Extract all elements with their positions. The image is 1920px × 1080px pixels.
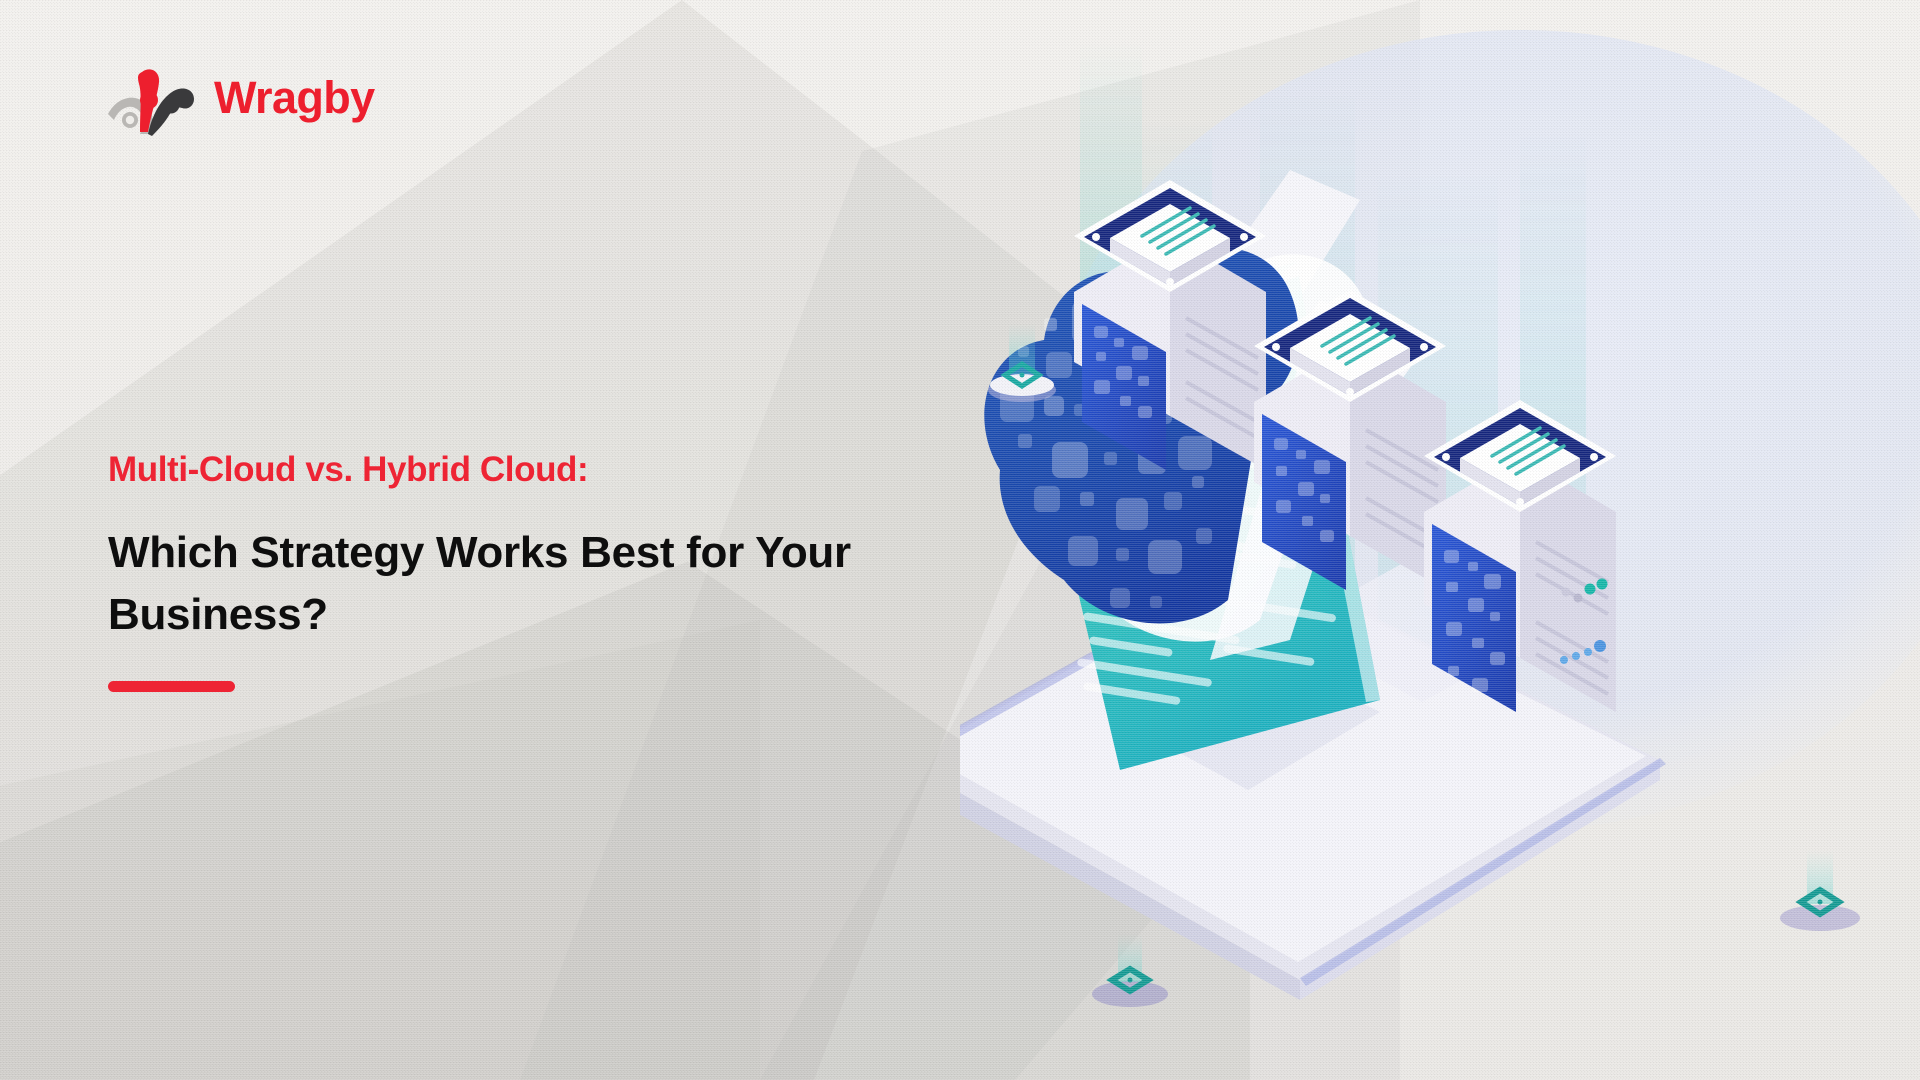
wragby-people-swoosh-logo-icon: [104, 58, 212, 136]
headline-block: Multi-Cloud vs. Hybrid Cloud: Which Stra…: [108, 452, 1008, 692]
poster-canvas: Wragby Multi-Cloud vs. Hybrid Cloud: Whi…: [0, 0, 1920, 1080]
page-title: Which Strategy Works Best for Your Busin…: [108, 522, 988, 647]
brand-logo[interactable]: Wragby: [104, 56, 404, 138]
brand-name: Wragby: [214, 75, 375, 120]
eyebrow-text: Multi-Cloud vs. Hybrid Cloud:: [108, 452, 1008, 489]
accent-rule: [108, 681, 235, 692]
